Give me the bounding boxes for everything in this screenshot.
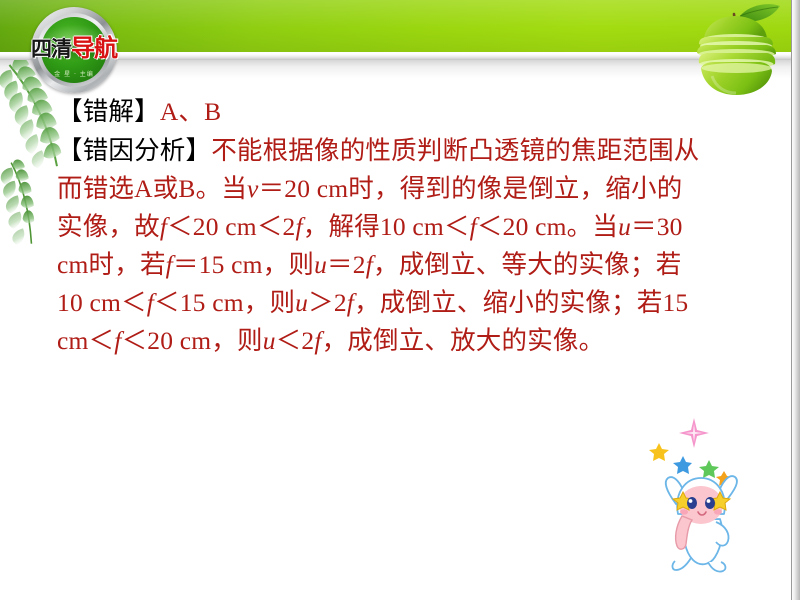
text-line-4-c: ，解得10 cm＜ (303, 212, 470, 241)
var-u-2: u (314, 250, 327, 279)
text-line-7: cm＜f＜20 cm，则u＜2f，成倒立、放大的实像。 (57, 322, 747, 360)
text-line-5-b: ＝15 cm，则 (173, 250, 314, 279)
text-line-6-a: 10 cm＜ (57, 288, 147, 317)
text-line-7-b: ＜20 cm，则 (122, 326, 263, 355)
text-line-3: 而错选A或B。当v＝20 cm时，得到的像是倒立，缩小的 (57, 170, 747, 208)
text-line-4: 实像，故f＜20 cm＜2f，解得10 cm＜f＜20 cm。当u＝30 (57, 208, 747, 246)
text-line-5-c: ＝2 (327, 250, 366, 279)
lesson-text-block: 【错解】A、B 【错因分析】不能根据像的性质判断凸透镜的焦距范围从 而错选A或B… (57, 92, 747, 360)
var-f-8: f (114, 326, 121, 355)
var-u-1: u (618, 212, 631, 241)
var-f-5: f (366, 250, 373, 279)
label-error-analysis: 【错因分析】 (57, 136, 211, 165)
sliced-green-apple-icon (682, 2, 788, 98)
text-line-1-body: A、B (160, 97, 222, 126)
header-divider-rule (0, 52, 800, 60)
var-f-9: f (314, 326, 321, 355)
var-u-3: u (295, 288, 308, 317)
text-line-4-a: 实像，故 (57, 212, 160, 241)
var-f-6: f (147, 288, 154, 317)
var-u-4: u (263, 326, 276, 355)
text-line-5-a: cm时，若 (57, 250, 166, 279)
text-line-1: 【错解】A、B (57, 92, 747, 132)
logo-subtitle: 金 星 · 主编 (31, 69, 117, 78)
cartoon-bunny-mascot (636, 416, 766, 586)
header-drop-shadow (0, 60, 800, 78)
var-f-2: f (296, 212, 303, 241)
text-line-6-d: ，成倒立、缩小的实像；若15 (354, 288, 688, 317)
text-line-3-b: ＝20 cm时，得到的像是倒立，缩小的 (259, 174, 683, 203)
right-edge-strip (791, 0, 800, 600)
text-line-5: cm时，若f＝15 cm，则u＝2f，成倒立、等大的实像；若 (57, 246, 747, 284)
var-f-3: f (470, 212, 477, 241)
var-v: v (247, 174, 259, 203)
var-f-7: f (347, 288, 354, 317)
text-line-4-d: ＜20 cm。当 (477, 212, 618, 241)
text-line-4-b: ＜20 cm＜2 (167, 212, 295, 241)
text-line-7-c: ＜2 (276, 326, 315, 355)
text-line-2-body: 不能根据像的性质判断凸透镜的焦距范围从 (211, 136, 699, 165)
logo-text-black: 四清 (31, 37, 71, 61)
header-gloss-overlay (0, 0, 800, 52)
var-f-1: f (160, 212, 167, 241)
slide-canvas: 四清导航 金 星 · 主编 (0, 0, 800, 600)
text-line-3-a: 而错选A或B。当 (57, 174, 247, 203)
right-edge-line (791, 0, 792, 600)
text-line-6-c: ＞2 (308, 288, 347, 317)
text-line-6: 10 cm＜f＜15 cm，则u＞2f，成倒立、缩小的实像；若15 (57, 284, 747, 322)
text-line-7-d: ，成倒立、放大的实像。 (322, 326, 605, 355)
logo-wordmark: 四清导航 (31, 37, 117, 60)
logo-text-red: 导航 (71, 34, 117, 62)
text-line-6-b: ＜15 cm，则 (154, 288, 295, 317)
label-wrong-answer: 【错解】 (57, 97, 160, 126)
text-line-2: 【错因分析】不能根据像的性质判断凸透镜的焦距范围从 (57, 132, 747, 170)
text-line-7-a: cm＜ (57, 326, 114, 355)
text-line-5-d: ，成倒立、等大的实像；若 (373, 250, 681, 279)
header-green-band (0, 0, 800, 52)
brand-logo: 四清导航 金 星 · 主编 (31, 7, 117, 93)
text-line-4-e: ＝30 (631, 212, 683, 241)
var-f-4: f (166, 250, 173, 279)
